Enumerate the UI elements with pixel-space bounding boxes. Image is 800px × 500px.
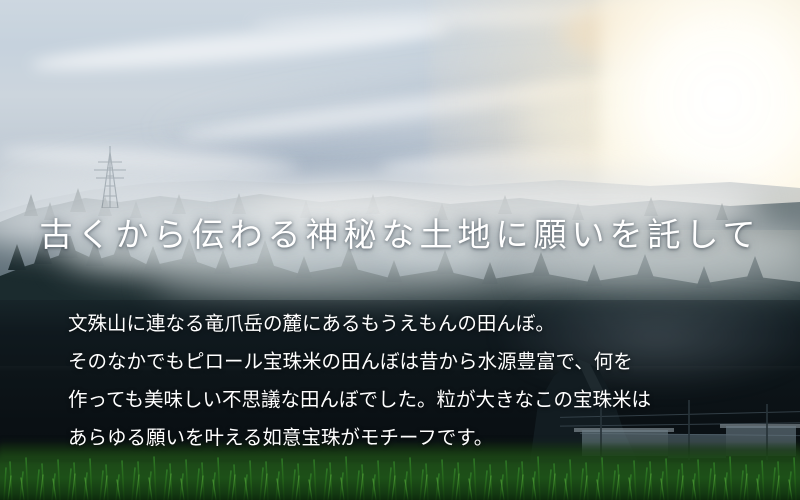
body-line: そのなかでもピロール宝珠米の田んぼは昔から水源豊富で、何を bbox=[68, 343, 768, 381]
hero-banner: 古くから伝わる神秘な土地に願いを託して 文殊山に連なる竜爪岳の麓にあるもうえもん… bbox=[0, 0, 800, 500]
body-line: 文殊山に連なる竜爪岳の麓にあるもうえもんの田んぼ。 bbox=[68, 305, 768, 343]
hero-headline: 古くから伝わる神秘な土地に願いを託して bbox=[0, 216, 800, 257]
body-line: あらゆる願いを叶える如意宝珠がモチーフです。 bbox=[68, 419, 768, 457]
power-transmission-tower-icon bbox=[88, 146, 132, 208]
hero-body-copy: 文殊山に連なる竜爪岳の麓にあるもうえもんの田んぼ。 そのなかでもピロール宝珠米の… bbox=[68, 305, 768, 457]
body-line: 作っても美味しい不思議な田んぼでした。粒が大きなこの宝珠米は bbox=[68, 381, 768, 419]
